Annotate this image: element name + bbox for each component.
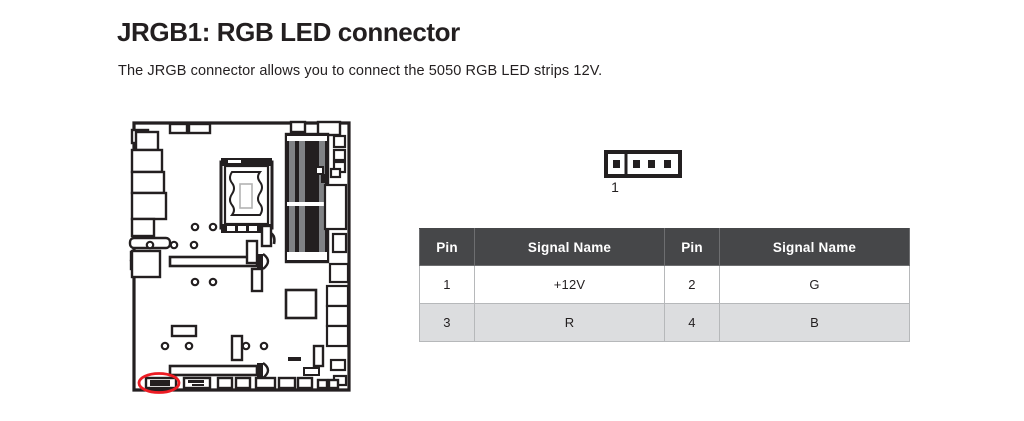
- pin-2-square: [633, 160, 640, 168]
- header-signal-2: Signal Name: [720, 229, 910, 266]
- connector-svg: 1: [598, 146, 693, 196]
- page-title: JRGB1: RGB LED connector: [117, 17, 460, 48]
- table-header: Pin Signal Name Pin Signal Name: [420, 229, 910, 266]
- table-header-row: Pin Signal Name Pin Signal Name: [420, 229, 910, 266]
- pin-assignment-table: Pin Signal Name Pin Signal Name 1 +12V 2…: [419, 228, 910, 342]
- motherboard-diagram: [128, 114, 358, 399]
- pin-1-square: [613, 160, 620, 168]
- table-row: 1 +12V 2 G: [420, 266, 910, 304]
- header-pin-2: Pin: [665, 229, 720, 266]
- table-row: 3 R 4 B: [420, 304, 910, 342]
- pin-4-square: [664, 160, 671, 168]
- cell-pin-2: 2: [665, 266, 720, 304]
- pin-1-label: 1: [611, 179, 619, 195]
- header-signal-1: Signal Name: [475, 229, 665, 266]
- cell-signal-3: R: [475, 304, 665, 342]
- table-body: 1 +12V 2 G 3 R 4 B: [420, 266, 910, 342]
- pin-3-square: [648, 160, 655, 168]
- cell-pin-1: 1: [420, 266, 475, 304]
- cell-pin-3: 3: [420, 304, 475, 342]
- page-description: The JRGB connector allows you to connect…: [118, 63, 602, 79]
- cell-pin-4: 4: [665, 304, 720, 342]
- header-pin-1: Pin: [420, 229, 475, 266]
- connector-pinout-diagram: 1: [598, 146, 693, 196]
- pin-table-container: Pin Signal Name Pin Signal Name 1 +12V 2…: [419, 228, 906, 342]
- motherboard-svg: [128, 114, 358, 399]
- cell-signal-1: +12V: [475, 266, 665, 304]
- cell-signal-2: G: [720, 266, 910, 304]
- cell-signal-4: B: [720, 304, 910, 342]
